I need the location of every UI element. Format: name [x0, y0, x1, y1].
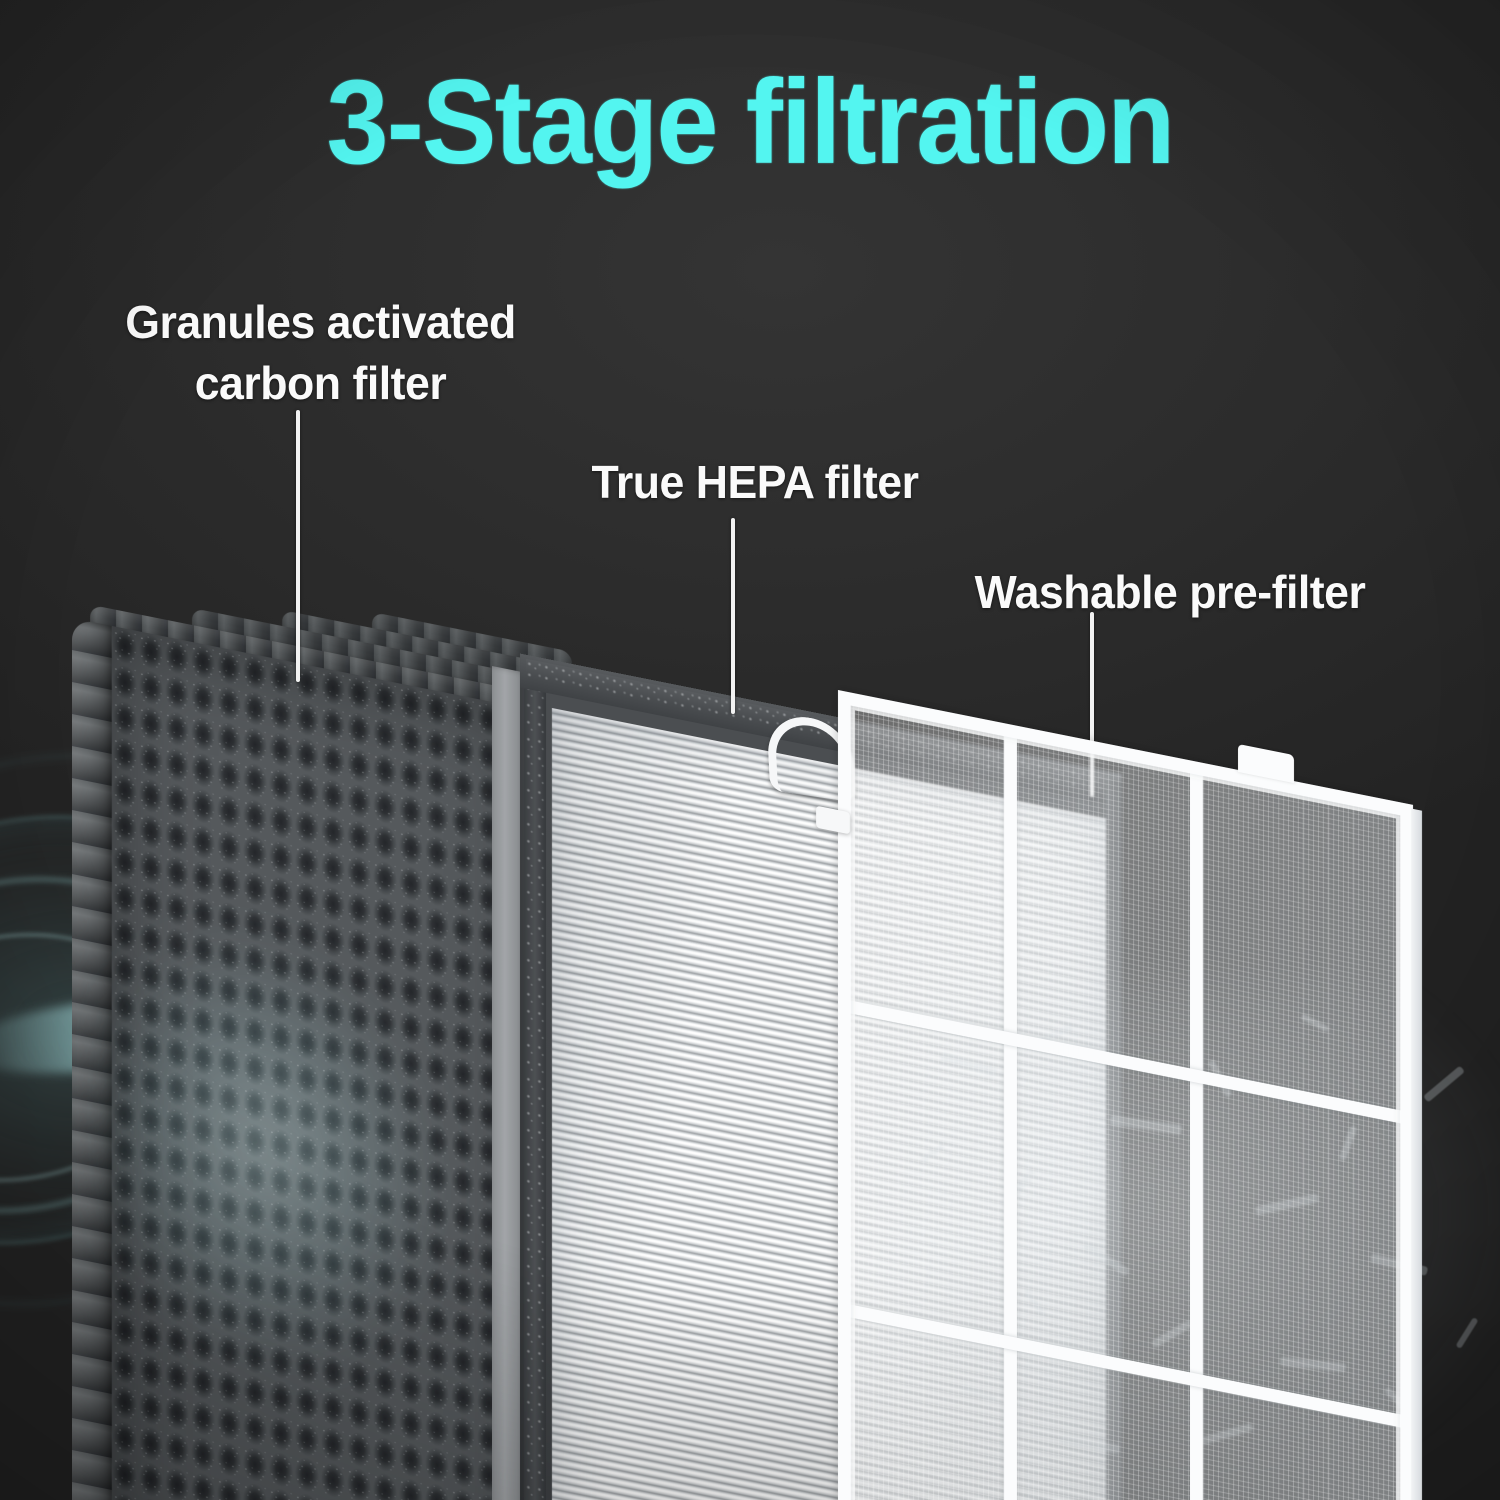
callout-label-pre-filter: Washable pre-filter	[879, 562, 1461, 623]
leader-line-carbon-filter	[296, 410, 300, 682]
callout-label-carbon-filter: Granules activated carbon filter	[46, 292, 594, 413]
hepa-left-foam-seal	[524, 684, 546, 1500]
infographic-canvas: 3-Stage filtration Granules activated ca…	[0, 0, 1500, 1500]
pre-filter-edge-thickness	[1411, 808, 1422, 1500]
callout-label-hepa-filter: True HEPA filter	[527, 452, 983, 513]
granules-activated-carbon-filter	[72, 618, 542, 1500]
washable-pre-filter	[838, 690, 1413, 1500]
carbon-backlight-bloom	[112, 906, 442, 1402]
carbon-granule-end-caps	[72, 618, 116, 1500]
page-title: 3-Stage filtration	[53, 62, 1448, 182]
leader-line-hepa-filter	[731, 518, 735, 714]
pre-filter-outer-frame	[838, 690, 1413, 1500]
